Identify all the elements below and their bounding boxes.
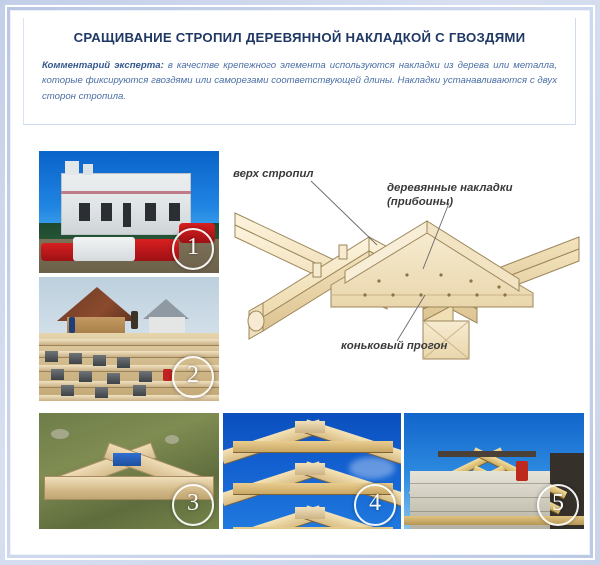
chimney: [83, 164, 93, 175]
truss-gusset: [295, 463, 325, 475]
support-block: [61, 385, 74, 396]
photo-badge: 1: [172, 228, 214, 270]
truss-tie-beam: [233, 441, 393, 452]
support-block: [69, 353, 82, 364]
expert-note-label: Комментарий эксперта:: [42, 60, 164, 71]
diagram-label-ridge-beam: коньковый прогон: [341, 339, 447, 353]
mortar-line: [410, 483, 550, 484]
block-house: [61, 173, 191, 235]
photo-badge: 3: [172, 484, 214, 526]
support-block: [117, 357, 130, 368]
photo-badge: 4: [354, 484, 396, 526]
rafter-splice-diagram: верх стропил деревянные накладки (прибои…: [227, 145, 585, 393]
blue-connector-plate: [113, 453, 141, 466]
stone: [165, 435, 179, 444]
red-equipment: [516, 461, 528, 481]
diagram-label-wooden-plates: деревянные накладки (прибоины): [387, 181, 513, 210]
photo-truss-on-grass[interactable]: 3: [39, 413, 219, 529]
window: [169, 203, 180, 221]
joist: [39, 339, 219, 345]
ridge-bar: [438, 451, 536, 457]
expert-note: Комментарий эксперта: в качестве крепежн…: [24, 46, 575, 105]
diagram-label-wooden-plates-line2: (прибоины): [387, 195, 513, 209]
chimney: [65, 161, 79, 175]
window: [145, 203, 156, 221]
decorative-outer-frame: СРАЩИВАНИЕ СТРОПИЛ ДЕРЕВЯННОЙ НАКЛАДКОЙ …: [0, 0, 600, 565]
stone: [51, 429, 69, 439]
white-material-pile: [73, 237, 135, 261]
page-title: СРАЩИВАНИЕ СТРОПИЛ ДЕРЕВЯННОЙ НАКЛАДКОЙ …: [24, 18, 575, 46]
window: [101, 203, 112, 221]
photo-trusses-sky[interactable]: 4: [223, 413, 401, 529]
worker: [69, 317, 75, 333]
photo-floor-joists[interactable]: 2: [39, 277, 219, 401]
red-material-pile: [41, 243, 77, 261]
door: [123, 203, 131, 227]
mortar-line: [410, 497, 550, 498]
red-canister: [163, 369, 172, 381]
truss-gusset: [295, 507, 325, 519]
photo-house-blocks[interactable]: 1: [39, 151, 219, 273]
support-block: [133, 385, 146, 396]
support-block: [95, 387, 108, 398]
window: [79, 203, 90, 221]
support-block: [139, 371, 152, 382]
photo-badge: 2: [172, 356, 214, 398]
decorative-middle-frame: СРАЩИВАНИЕ СТРОПИЛ ДЕРЕВЯННОЙ НАКЛАДКОЙ …: [5, 5, 595, 560]
photo-roof-rafters[interactable]: 5: [404, 413, 584, 529]
house-wall: [149, 317, 185, 333]
support-block: [51, 369, 64, 380]
support-block: [79, 371, 92, 382]
support-block: [93, 355, 106, 366]
worker: [131, 311, 138, 329]
diagram-label-top-of-rafters: верх стропил: [233, 167, 314, 181]
page-canvas: СРАЩИВАНИЕ СТРОПИЛ ДЕРЕВЯННОЙ НАКЛАДКОЙ …: [10, 10, 590, 555]
roof-truss: [223, 419, 401, 459]
photo-badge: 5: [537, 484, 579, 526]
truss-gusset: [295, 421, 325, 433]
truss-tie-beam: [233, 527, 393, 529]
support-block: [107, 373, 120, 384]
content-area: 1: [11, 135, 589, 565]
wall-band: [61, 191, 191, 194]
diagram-label-wooden-plates-line1: деревянные накладки: [387, 181, 513, 195]
header-card: СРАЩИВАНИЕ СТРОПИЛ ДЕРЕВЯННОЙ НАКЛАДКОЙ …: [23, 18, 576, 125]
mortar-line: [410, 511, 550, 512]
support-block: [45, 351, 58, 362]
